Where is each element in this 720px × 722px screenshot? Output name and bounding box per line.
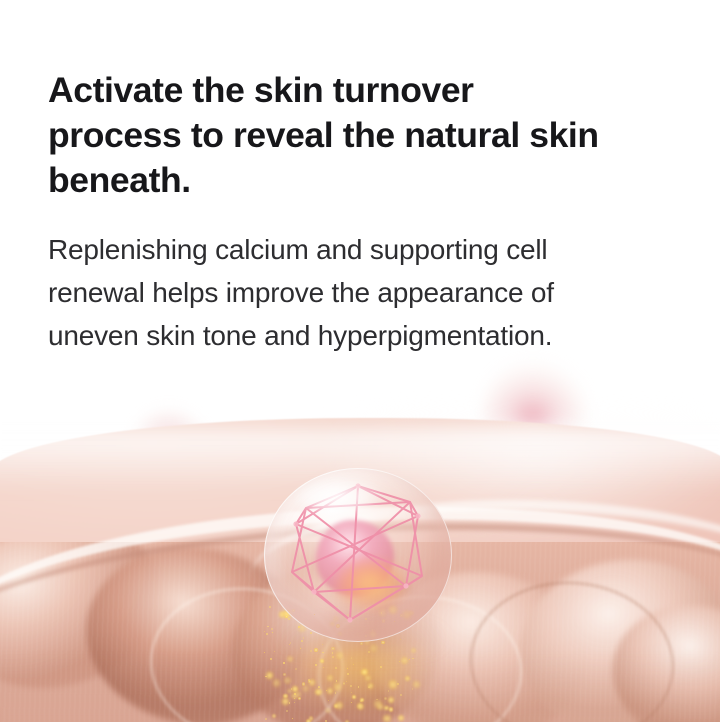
skin-illustration <box>0 330 720 722</box>
marketing-slide: Activate the skin turnover process to re… <box>0 0 720 722</box>
body-paragraph: Replenishing calcium and supporting cell… <box>48 203 678 357</box>
depth-of-field-fade <box>0 652 720 722</box>
sphere-rim <box>264 468 452 642</box>
hero-sphere <box>264 468 452 642</box>
page-title: Activate the skin turnover process to re… <box>48 68 678 203</box>
text-block: Activate the skin turnover process to re… <box>48 68 678 357</box>
